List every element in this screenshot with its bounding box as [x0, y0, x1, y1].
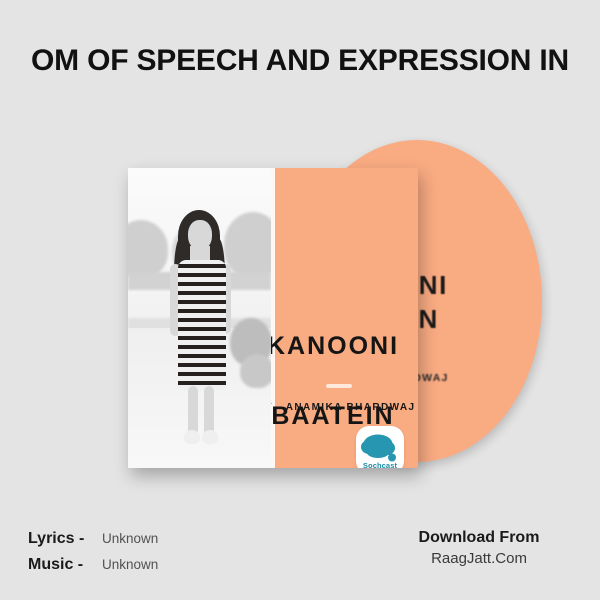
- photo-figure-shoe: [202, 430, 218, 444]
- lyrics-label: Lyrics -: [28, 530, 92, 548]
- album-byline: BY - ANAMIKA BHARDWAJ: [271, 402, 418, 413]
- download-title: Download From: [384, 528, 574, 548]
- lyrics-row: Lyrics - Unknown: [28, 530, 158, 548]
- sochcast-logo: Sochcast: [356, 426, 404, 468]
- page-title: OM OF SPEECH AND EXPRESSION IN: [31, 44, 569, 78]
- photo-figure-shoe: [184, 430, 200, 444]
- download-block: Download From RaagJatt.Com: [384, 528, 574, 570]
- title-divider-dash: [326, 384, 352, 388]
- music-value: Unknown: [102, 557, 158, 572]
- sleeve-title-panel: KANOONI BAATEIN BY - ANAMIKA BHARDWAJ So…: [271, 168, 418, 468]
- header-bar: OM OF SPEECH AND EXPRESSION IN: [0, 0, 600, 118]
- album-sleeve: KANOONI BAATEIN BY - ANAMIKA BHARDWAJ So…: [128, 168, 418, 468]
- album-title-line1: KANOONI: [271, 329, 418, 364]
- music-label: Music -: [28, 556, 92, 574]
- lyrics-value: Unknown: [102, 531, 158, 546]
- sochcast-logo-caption: Sochcast: [356, 461, 404, 468]
- artist-photo: [128, 168, 271, 468]
- photo-shrub: [240, 354, 271, 388]
- photo-figure-dress: [178, 260, 226, 390]
- album-artwork-stage: KANOONI BAATEIN Y - ANAMIKA BHARDWAJ: [0, 112, 600, 502]
- download-site-name: RaagJatt.Com: [384, 548, 574, 570]
- music-row: Music - Unknown: [28, 556, 158, 574]
- photo-tree: [224, 212, 271, 278]
- footer-info: Lyrics - Unknown Music - Unknown Downloa…: [0, 500, 600, 600]
